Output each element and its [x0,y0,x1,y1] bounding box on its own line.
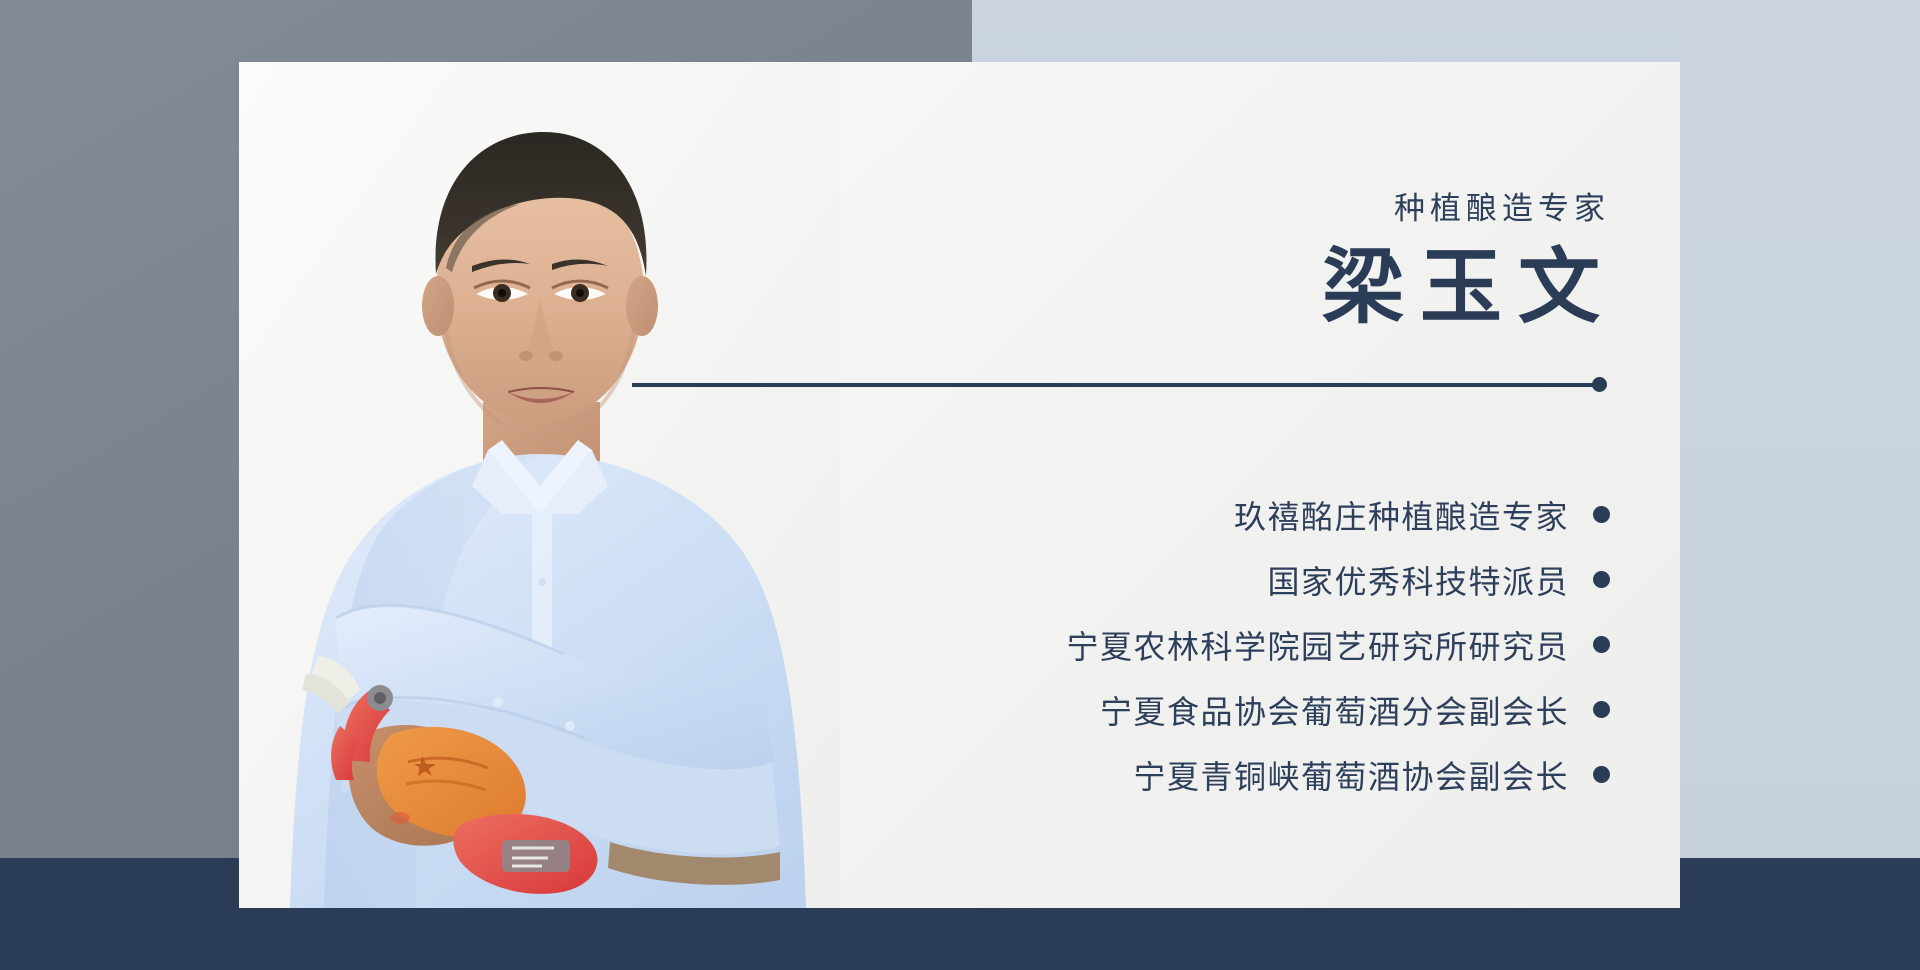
bullet-dot-icon [1593,506,1610,523]
list-item: 国家优秀科技特派员 [780,547,1610,612]
credential-text: 宁夏农林科学院园艺研究所研究员 [1066,622,1569,668]
list-item: 宁夏青铜峡葡萄酒协会副会长 [780,742,1610,807]
list-item: 宁夏食品协会葡萄酒分会副会长 [780,677,1610,742]
credential-text: 国家优秀科技特派员 [1267,557,1569,603]
divider-end-dot-icon [1592,377,1607,392]
credentials-list: 玖禧酩庄种植酿造专家 国家优秀科技特派员 宁夏农林科学院园艺研究所研究员 宁夏食… [780,482,1610,807]
credential-text: 宁夏食品协会葡萄酒分会副会长 [1100,687,1569,733]
credential-text: 玖禧酩庄种植酿造专家 [1234,492,1569,538]
background-blue-right-band [1680,0,1920,858]
portrait-container [240,62,840,908]
horizontal-divider [632,383,1600,387]
credential-text: 宁夏青铜峡葡萄酒协会副会长 [1133,752,1569,798]
portrait-photo [240,62,840,908]
list-item: 玖禧酩庄种植酿造专家 [780,482,1610,547]
background-navy-right-strip [1680,858,1920,970]
poster-canvas: 种植酿造专家 梁玉文 玖禧酩庄种植酿造专家 国家优秀科技特派员 宁夏农林科学院园… [0,0,1920,970]
person-name: 梁玉文 [900,240,1616,337]
bullet-dot-icon [1593,701,1610,718]
bullet-dot-icon [1593,571,1610,588]
bullet-dot-icon [1593,636,1610,653]
list-item: 宁夏农林科学院园艺研究所研究员 [780,612,1610,677]
role-subtitle: 种植酿造专家 [900,193,1610,224]
bullet-dot-icon [1593,766,1610,783]
